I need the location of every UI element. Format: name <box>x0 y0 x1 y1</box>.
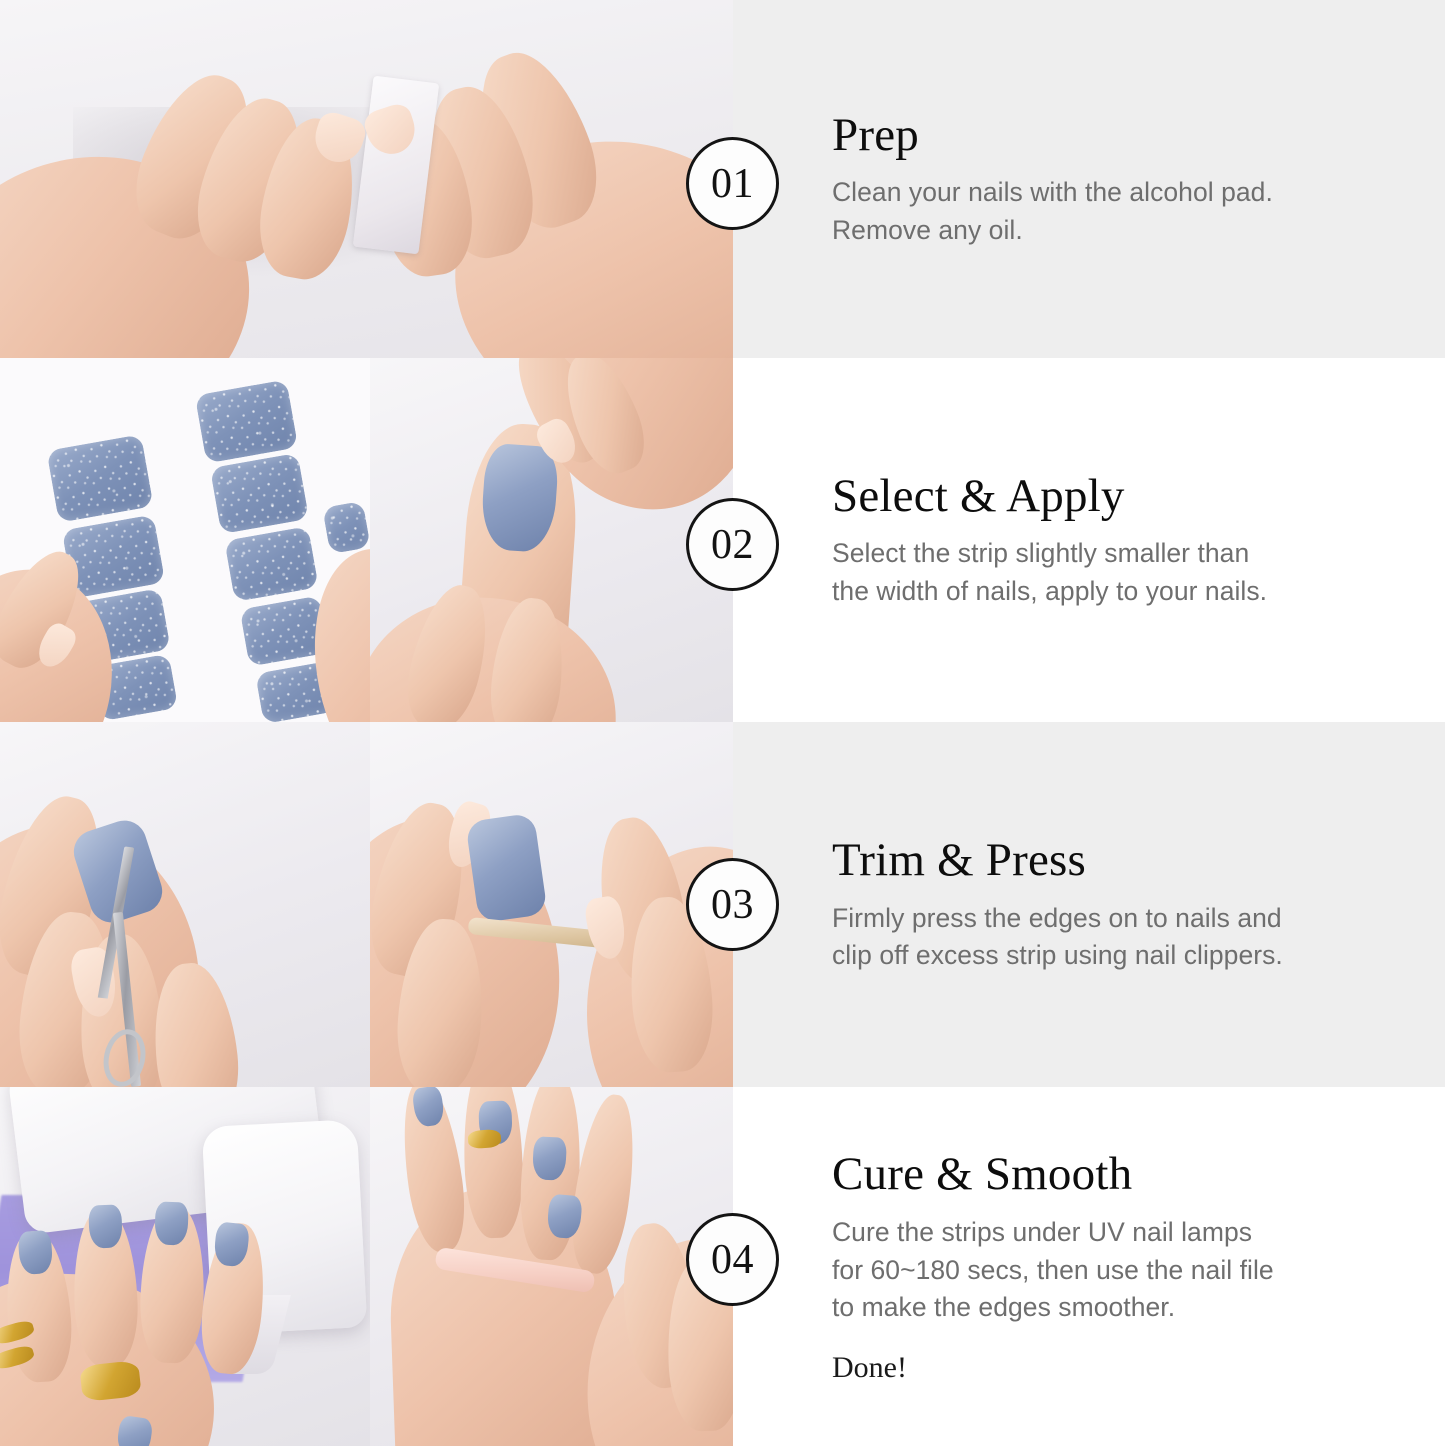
step-number-badge-02: 02 <box>686 498 779 591</box>
step-02-line-2: the width of nails, apply to your nails. <box>832 573 1445 611</box>
step-04-description: Cure the strips under UV nail lamps for … <box>832 1214 1445 1327</box>
step-01-title: Prep <box>832 109 1445 162</box>
step-02-text-pane: Select & Apply Select the strip slightly… <box>733 358 1445 722</box>
step-02-media-right <box>370 358 733 722</box>
step-03-media-right <box>370 722 733 1087</box>
step-01-line-2: Remove any oil. <box>832 212 1445 250</box>
step-03-text-pane: Trim & Press Firmly press the edges on t… <box>733 722 1445 1087</box>
photo-filing-nail-edges-with-nail-file <box>370 1087 733 1446</box>
step-03-line-2: clip off excess strip using nail clipper… <box>832 937 1445 975</box>
done-label: Done! <box>832 1351 1445 1385</box>
photo-applying-strip-to-thumb-nail <box>370 358 733 722</box>
step-04-title: Cure & Smooth <box>832 1148 1445 1201</box>
step-row-03: Trim & Press Firmly press the edges on t… <box>0 722 1445 1087</box>
step-03-title: Trim & Press <box>832 834 1445 887</box>
photo-hands-holding-alcohol-pad <box>0 0 733 358</box>
step-row-01: Prep Clean your nails with the alcohol p… <box>0 0 1445 358</box>
step-02-media-left <box>0 358 370 722</box>
step-01-description: Clean your nails with the alcohol pad. R… <box>832 174 1445 249</box>
step-02-description: Select the strip slightly smaller than t… <box>832 535 1445 610</box>
step-row-04: Cure & Smooth Cure the strips under UV n… <box>0 1087 1445 1446</box>
step-04-line-2: for 60~180 secs, then use the nail file <box>832 1252 1445 1290</box>
instruction-infographic: Prep Clean your nails with the alcohol p… <box>0 0 1445 1446</box>
photo-trimming-strip-with-scissors <box>0 722 370 1087</box>
photo-pressing-edges-with-cuticle-stick <box>370 722 733 1087</box>
step-01-text-pane: Prep Clean your nails with the alcohol p… <box>733 0 1445 358</box>
step-number-badge-04: 04 <box>686 1213 779 1306</box>
step-03-media-left <box>0 722 370 1087</box>
step-03-description: Firmly press the edges on to nails and c… <box>832 900 1445 975</box>
step-01-media <box>0 0 733 358</box>
blue-nail <box>465 813 548 924</box>
step-04-line-3: to make the edges smoother. <box>832 1289 1445 1327</box>
step-01-line-1: Clean your nails with the alcohol pad. <box>832 174 1445 212</box>
photo-hand-under-uv-nail-lamp <box>0 1087 370 1446</box>
step-number-badge-01: 01 <box>686 137 779 230</box>
step-04-text-pane: Cure & Smooth Cure the strips under UV n… <box>733 1087 1445 1446</box>
step-04-line-1: Cure the strips under UV nail lamps <box>832 1214 1445 1252</box>
step-number-badge-03: 03 <box>686 858 779 951</box>
step-03-line-1: Firmly press the edges on to nails and <box>832 900 1445 938</box>
step-04-media-left <box>0 1087 370 1446</box>
step-02-line-1: Select the strip slightly smaller than <box>832 535 1445 573</box>
step-row-02: Select & Apply Select the strip slightly… <box>0 358 1445 722</box>
step-04-media-right <box>370 1087 733 1446</box>
photo-nail-strip-sheet-in-hand <box>0 358 370 722</box>
step-02-title: Select & Apply <box>832 470 1445 523</box>
